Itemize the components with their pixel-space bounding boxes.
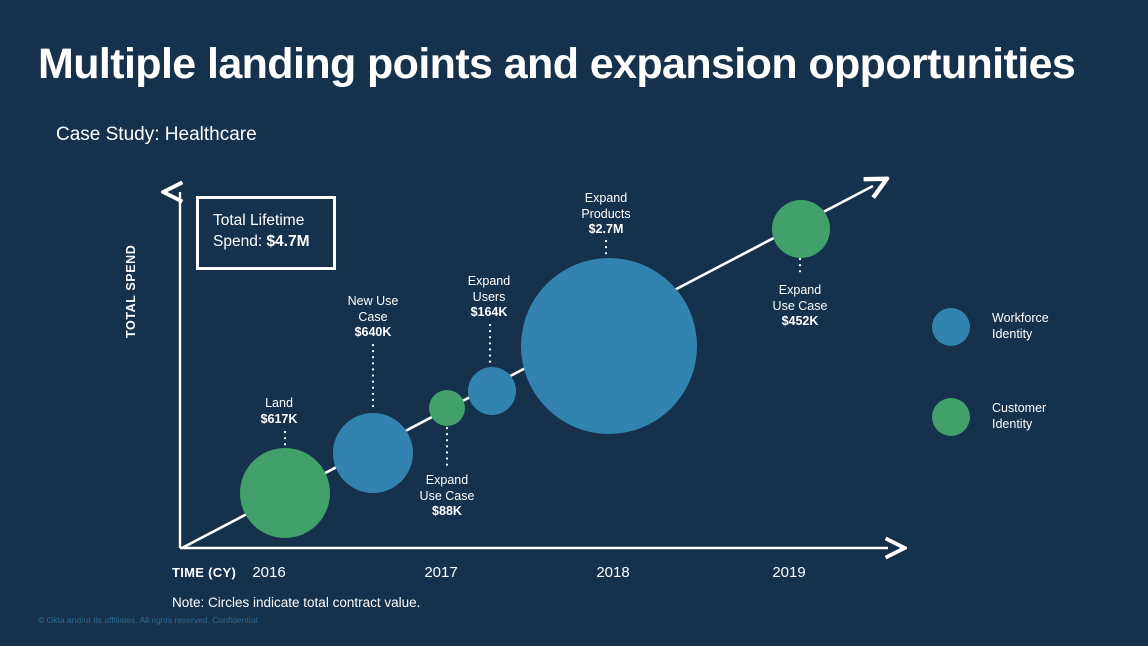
legend-item-customer[interactable]: CustomerIdentity: [932, 398, 1046, 436]
legend-label-workforce: WorkforceIdentity: [992, 311, 1049, 342]
copyright-footer: © Okta and/or its affiliates. All rights…: [38, 615, 260, 625]
legend-swatch-customer: [932, 398, 970, 436]
bubble-label-name: Use Case: [773, 299, 828, 315]
bubble-label-name: Expand: [468, 274, 510, 290]
bubble-label-name: Products: [581, 207, 630, 223]
legend-label-line2: Identity: [992, 417, 1046, 433]
slide-root: Multiple landing points and expansion op…: [0, 0, 1148, 646]
bubble-label-name: Users: [468, 290, 510, 306]
bubble-label-name: Case: [348, 310, 399, 326]
bubble-new-use-case-$640k[interactable]: [333, 413, 413, 493]
bubble-label-name: Expand: [581, 191, 630, 207]
legend-label-line1: Workforce: [992, 311, 1049, 327]
bubble-label-value: $640K: [348, 325, 399, 341]
bubble-label-land-$617k: Land$617K: [261, 396, 298, 427]
legend-swatch-workforce: [932, 308, 970, 346]
y-axis-title: TOTAL SPEND: [124, 218, 138, 338]
bubble-label-expand-users-$164k: ExpandUsers$164K: [468, 274, 510, 321]
bubble-label-name: Land: [261, 396, 298, 412]
legend-item-workforce[interactable]: WorkforceIdentity: [932, 308, 1049, 346]
bubble-expand-users-$164k[interactable]: [468, 367, 516, 415]
bubble-label-expand-use-case-$88k: ExpandUse Case$88K: [420, 473, 475, 520]
x-axis-tick-2017: 2017: [424, 564, 457, 581]
x-axis-tick-2018: 2018: [596, 564, 629, 581]
bubble-label-expand-use-case-$452k: ExpandUse Case$452K: [773, 283, 828, 330]
bubble-label-name: New Use: [348, 294, 399, 310]
bubble-expand-use-case-$88k[interactable]: [429, 390, 465, 426]
x-axis-tick-2016: 2016: [252, 564, 285, 581]
bubble-label-name: Expand: [773, 283, 828, 299]
chart-note: Note: Circles indicate total contract va…: [172, 595, 420, 610]
bubble-label-name: Expand: [420, 473, 475, 489]
legend-label-line2: Identity: [992, 327, 1049, 343]
bubble-label-value: $2.7M: [581, 222, 630, 238]
x-axis-tick-2019: 2019: [772, 564, 805, 581]
bubble-label-value: $164K: [468, 305, 510, 321]
bubble-land-$617k[interactable]: [240, 448, 330, 538]
bubble-expand-use-case-$452k[interactable]: [772, 200, 830, 258]
bubble-label-new-use-case-$640k: New UseCase$640K: [348, 294, 399, 341]
legend-label-line1: Customer: [992, 401, 1046, 417]
legend-label-customer: CustomerIdentity: [992, 401, 1046, 432]
x-axis-title: TIME (CY): [172, 565, 236, 580]
bubble-label-name: Use Case: [420, 489, 475, 505]
bubble-label-value: $617K: [261, 412, 298, 428]
bubble-label-value: $452K: [773, 314, 828, 330]
bubble-label-expand-products-$2.7m: ExpandProducts$2.7M: [581, 191, 630, 238]
bubble-label-value: $88K: [420, 504, 475, 520]
bubble-expand-products-$2.7m[interactable]: [521, 258, 697, 434]
